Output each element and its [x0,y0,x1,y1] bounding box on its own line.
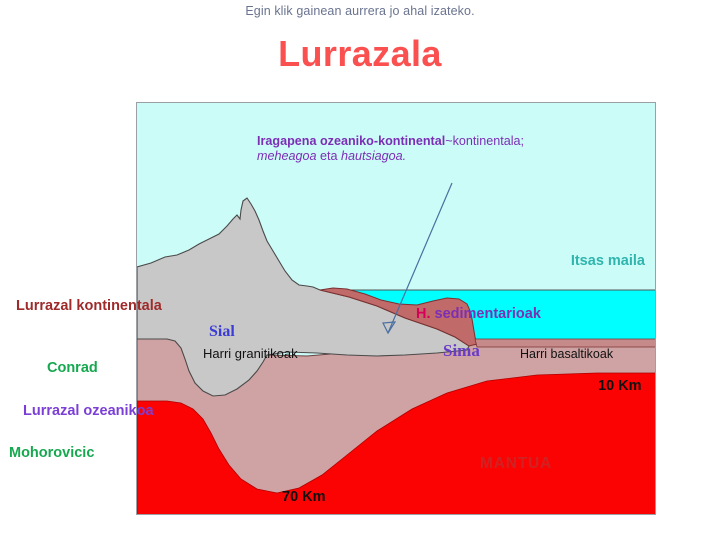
sediments-label-rest: sedimentarioak [431,306,541,322]
crust-cross-section-graphic [137,103,656,515]
depth-70km-label: 70 Km [282,489,326,507]
transition-note-normal-2: eta [317,149,342,163]
basalt-rocks-label: Harri basaltikoak [520,347,613,362]
depth-10km-label: 10 Km [598,378,642,396]
mantle-label: MANTUA [480,455,552,474]
label-oceanic-crust: Lurrazal ozeanikoa [23,403,154,419]
transition-note-italic-1: meheagoa [257,149,317,163]
label-continental-crust: Lurrazal kontinentala [16,298,162,314]
sima-label: Sima [443,341,480,362]
transition-note: Iragapena ozeaniko-kontinental~kontinent… [257,134,587,165]
granite-rocks-label: Harri granitikoak [203,346,298,362]
transition-note-bold: Iragapena ozeaniko-kontinental [257,134,445,148]
slide-subtitle: Egin klik gainean aurrera jo ahal izatek… [0,4,720,18]
transition-note-normal-1: ~kontinentala; [445,134,524,148]
sea-level-label: Itsas maila [571,253,645,271]
sial-label: Sial [209,322,235,342]
sediments-label: H. sedimentarioak [416,306,541,324]
transition-note-italic-2: hautsiagoa. [341,149,406,163]
basalt-crust-top-band [475,339,656,347]
label-conrad-discontinuity: Conrad [47,360,98,376]
page-title: Lurrazala [0,33,720,75]
earth-crust-diagram[interactable]: Iragapena ozeaniko-kontinental~kontinent… [136,102,656,515]
sediments-label-prefix: H. [416,306,431,322]
label-mohorovicic-discontinuity: Mohorovicic [9,445,94,461]
